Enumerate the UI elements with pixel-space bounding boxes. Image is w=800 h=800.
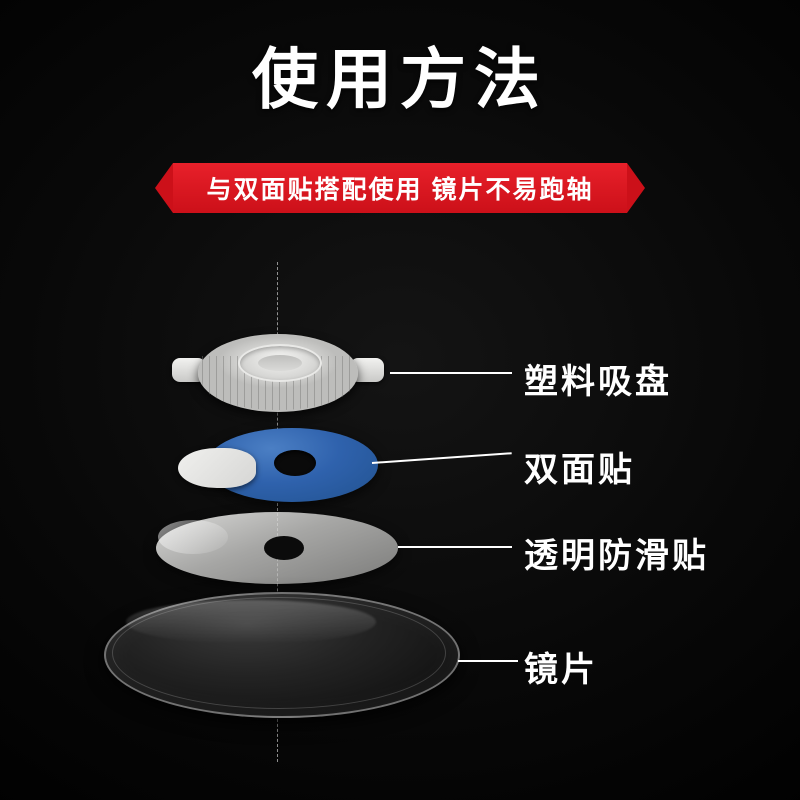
label-double-tape: 双面贴 (524, 442, 635, 491)
tape-center-hole (274, 450, 316, 476)
leader-line-double-tape (372, 452, 512, 464)
lens-part (104, 592, 456, 718)
lens-highlight (126, 600, 376, 644)
label-lens: 镜片 (524, 642, 598, 691)
banner-text: 与双面贴搭配使用 镜片不易跑轴 (207, 170, 594, 206)
banner-container: 与双面贴搭配使用 镜片不易跑轴 (0, 160, 800, 216)
leader-line-suction-cup (390, 372, 512, 374)
suction-cup-part (172, 330, 384, 416)
anti-slip-center-hole (264, 536, 304, 560)
label-suction-cup: 塑料吸盘 (524, 354, 672, 403)
leader-line-anti-slip (398, 546, 512, 548)
tape-peel-liner (178, 448, 256, 488)
label-anti-slip: 透明防滑贴 (524, 528, 709, 577)
poster-canvas: 使用方法 与双面贴搭配使用 镜片不易跑轴 塑料吸盘 双面贴 透明防滑贴 镜片 (0, 0, 800, 800)
double-sided-tape-part (178, 428, 378, 504)
anti-slip-sticker-part (156, 512, 398, 590)
leader-line-lens (458, 660, 518, 662)
page-title: 使用方法 (0, 46, 800, 112)
anti-slip-highlight (158, 520, 228, 554)
suction-cup-inner-ring (238, 344, 322, 382)
banner-ribbon: 与双面贴搭配使用 镜片不易跑轴 (173, 163, 628, 213)
